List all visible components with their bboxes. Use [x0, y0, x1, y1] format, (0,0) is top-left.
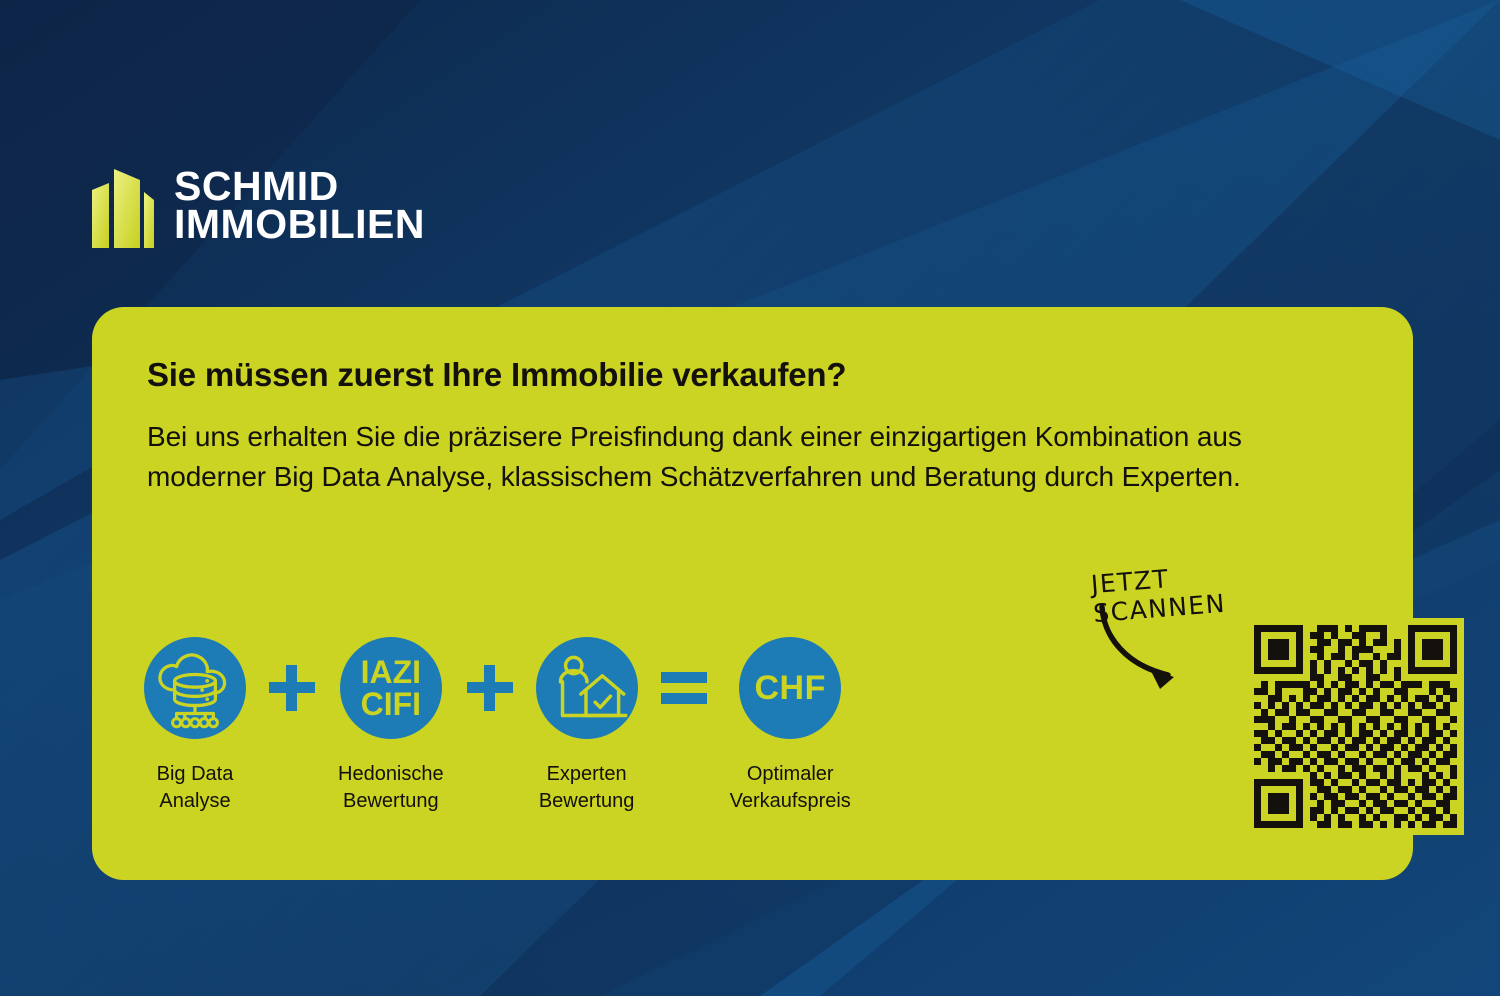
cifi-text: CIFI — [361, 688, 421, 720]
buildings-icon — [92, 162, 154, 248]
formula-step-big-data: Big Data Analyse — [144, 637, 246, 815]
plus-icon — [444, 637, 536, 739]
valuation-formula: Big Data Analyse IAZI CIFI Hedonische Be… — [144, 637, 851, 815]
formula-step-price: CHF Optimaler Verkaufspreis — [730, 637, 851, 815]
cloud-database-network-icon — [144, 637, 246, 739]
chf-text: CHF — [755, 671, 826, 705]
chf-currency-badge: CHF — [739, 637, 841, 739]
iazi-cifi-logo: IAZI CIFI — [340, 637, 442, 739]
curved-arrow-down-right-icon — [1094, 603, 1204, 693]
page-title: Sie müssen zuerst Ihre Immobilie verkauf… — [147, 356, 846, 394]
formula-step-label: Big Data Analyse — [157, 761, 234, 815]
offer-card: Sie müssen zuerst Ihre Immobilie verkauf… — [92, 307, 1413, 880]
formula-step-label: Hedonische Bewertung — [338, 761, 444, 815]
formula-step-hedonic: IAZI CIFI Hedonische Bewertung — [338, 637, 444, 815]
formula-step-label: Optimaler Verkaufspreis — [730, 761, 851, 815]
plus-icon — [246, 637, 338, 739]
brand-logo: SCHMID IMMOBILIEN — [92, 162, 425, 248]
qr-code[interactable] — [1247, 618, 1464, 840]
brand-name-line2: IMMOBILIEN — [174, 205, 425, 243]
formula-step-label: Experten Bewertung — [539, 761, 635, 815]
equals-icon — [638, 637, 730, 739]
card-body-text: Bei uns erhalten Sie die präzisere Preis… — [147, 417, 1337, 497]
brand-name-line1: SCHMID — [174, 167, 425, 205]
formula-step-expert: Experten Bewertung — [536, 637, 638, 815]
iazi-text: IAZI — [361, 656, 421, 688]
expert-house-check-icon — [536, 637, 638, 739]
